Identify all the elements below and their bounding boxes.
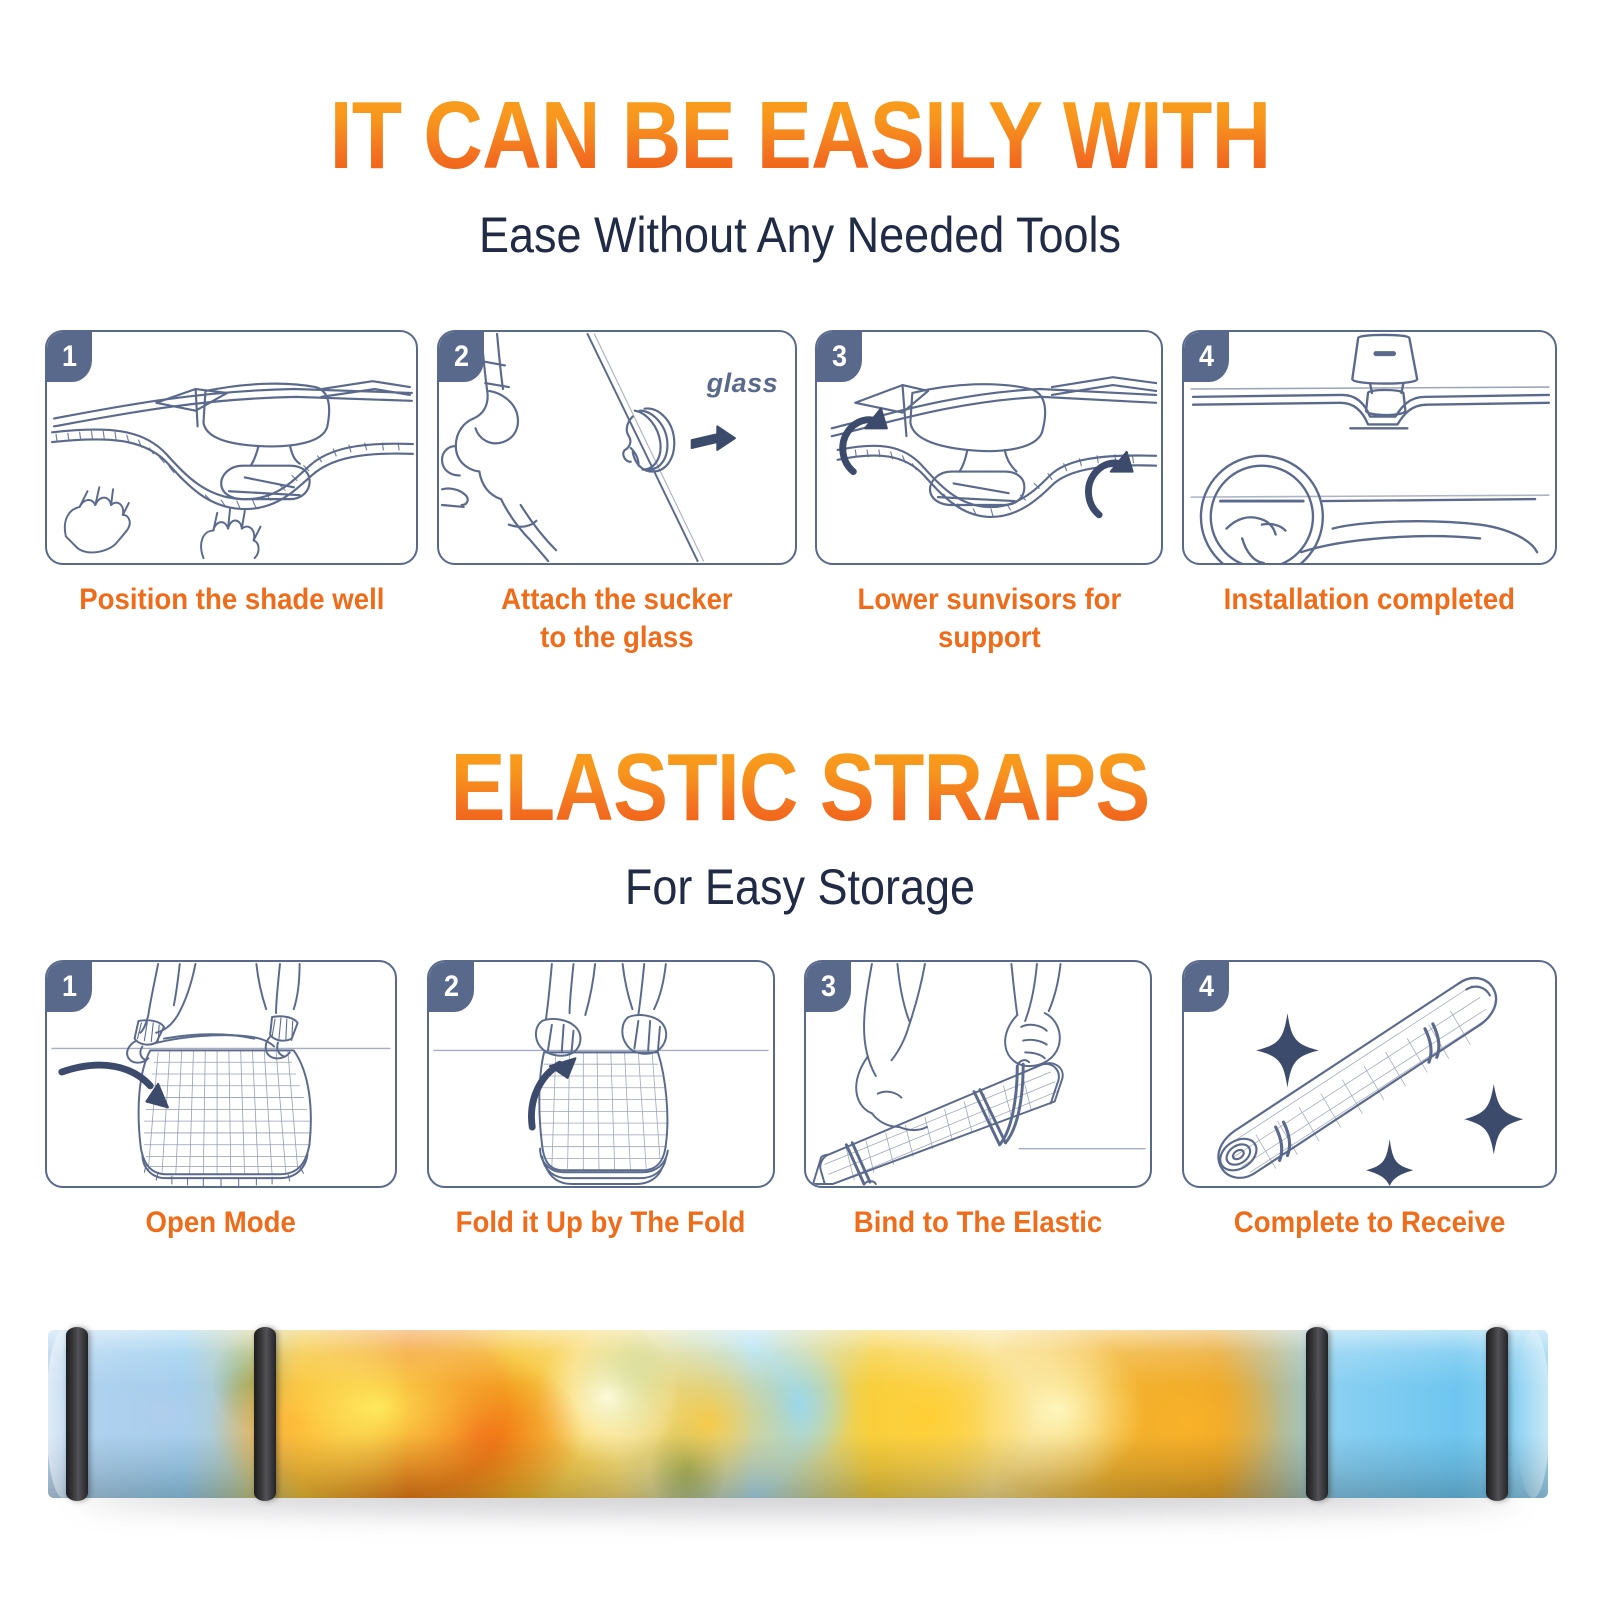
step-number-badge: 3 xyxy=(817,332,862,382)
elastic-strap xyxy=(1306,1327,1328,1501)
storage-step-2-caption: Fold it Up by The Fold xyxy=(456,1204,746,1242)
install-step-2-caption: Attach the sucker to the glass xyxy=(501,581,733,656)
storage-step-1[interactable]: 1 xyxy=(45,960,397,1242)
install-step-4-caption: Installation completed xyxy=(1224,581,1515,619)
hands-folding-shade-illustration xyxy=(429,962,773,1186)
install-step-2[interactable]: 2 xyxy=(437,330,797,656)
hand-suction-cup-glass-illustration xyxy=(439,332,795,563)
install-step-1-caption: Position the shade well xyxy=(79,581,384,619)
storage-steps-row: 1 xyxy=(45,960,1557,1242)
storage-step-3[interactable]: 3 xyxy=(804,960,1152,1242)
install-step-2-panel: 2 xyxy=(437,330,797,565)
storage-step-3-panel: 3 xyxy=(804,960,1152,1188)
install-headline: IT CAN BE EASILY WITH xyxy=(112,88,1488,184)
car-interior-mirror-wheel-illustration xyxy=(1184,332,1555,563)
install-hero: IT CAN BE EASILY WITH Ease Without Any N… xyxy=(0,88,1600,264)
step-number-badge: 2 xyxy=(429,962,474,1012)
step-number-badge: 2 xyxy=(439,332,484,382)
storage-step-1-panel: 1 xyxy=(45,960,397,1188)
hands-holding-open-shade-illustration xyxy=(47,962,395,1186)
product-photo-rolled-sunshade xyxy=(48,1330,1548,1498)
elastic-strap xyxy=(66,1327,88,1501)
rolled-shade-sparkles-illustration xyxy=(1184,962,1555,1186)
install-step-1-panel: 1 xyxy=(45,330,418,565)
storage-headline: ELASTIC STRAPS xyxy=(112,740,1488,836)
install-step-4[interactable]: 4 xyxy=(1182,330,1557,619)
step-number-badge: 1 xyxy=(47,962,92,1012)
dashboard-sunvisor-arrows-illustration xyxy=(817,332,1161,563)
step-number-badge: 1 xyxy=(47,332,92,382)
glass-annotation-label: glass xyxy=(707,368,779,399)
storage-step-2[interactable]: 2 xyxy=(427,960,775,1242)
storage-hero: ELASTIC STRAPS For Easy Storage xyxy=(0,740,1600,916)
install-step-3-caption: Lower sunvisors for support xyxy=(857,581,1121,656)
install-step-1[interactable]: 1 xyxy=(45,330,418,619)
install-steps-row: 1 xyxy=(45,330,1557,656)
storage-step-1-caption: Open Mode xyxy=(146,1204,296,1242)
storage-step-4-caption: Complete to Receive xyxy=(1234,1204,1505,1242)
install-subheadline: Ease Without Any Needed Tools xyxy=(80,206,1520,264)
install-step-4-panel: 4 xyxy=(1182,330,1557,565)
step-number-badge: 4 xyxy=(1184,962,1229,1012)
elastic-strap xyxy=(254,1327,276,1501)
car-dashboard-shade-hands-illustration xyxy=(47,332,416,563)
storage-subheadline: For Easy Storage xyxy=(80,858,1520,916)
hands-binding-elastic-strap-illustration xyxy=(806,962,1150,1186)
install-step-3[interactable]: 3 xyxy=(815,330,1163,656)
storage-step-2-panel: 2 xyxy=(427,960,775,1188)
install-step-3-panel: 3 xyxy=(815,330,1163,565)
storage-step-4-panel: 4 xyxy=(1182,960,1557,1188)
step-number-badge: 4 xyxy=(1184,332,1229,382)
elastic-strap xyxy=(1486,1327,1508,1501)
storage-step-3-caption: Bind to The Elastic xyxy=(854,1204,1102,1242)
step-number-badge: 3 xyxy=(806,962,851,1012)
storage-step-4[interactable]: 4 xyxy=(1182,960,1557,1242)
